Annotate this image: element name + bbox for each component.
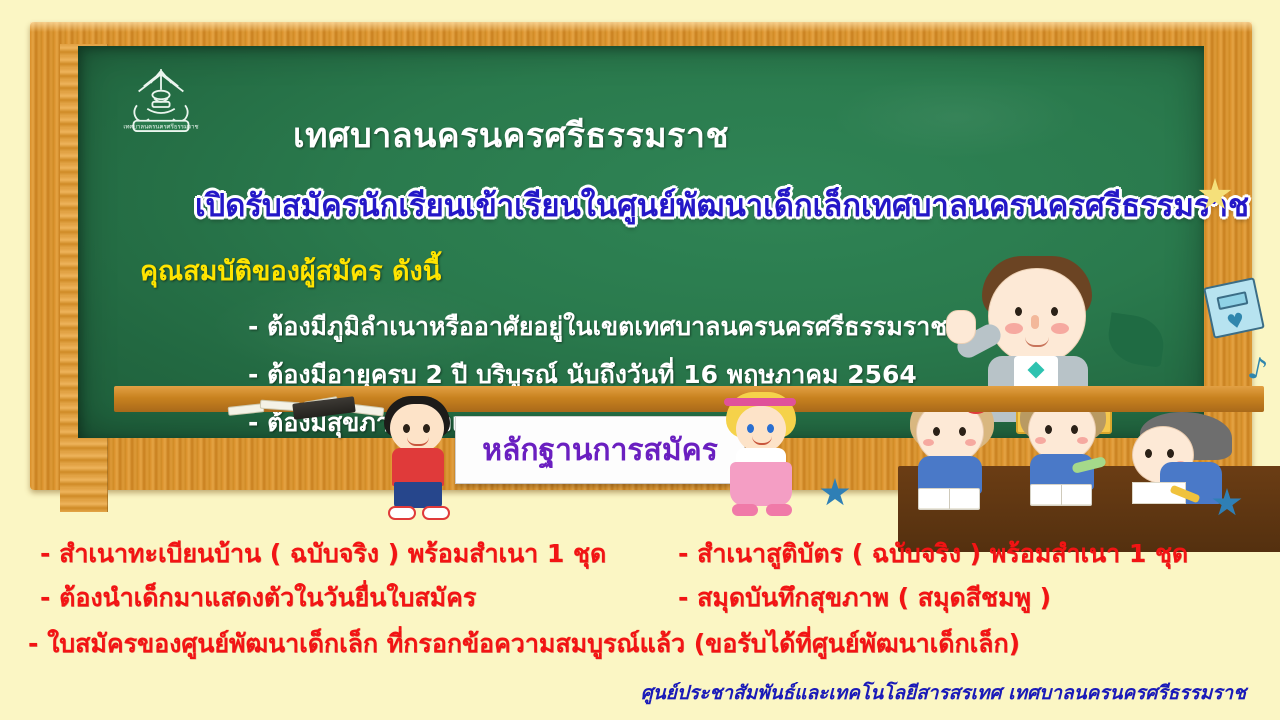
pupil-eye	[1167, 449, 1174, 458]
book-label	[1216, 291, 1248, 310]
main-headline: เปิดรับสมัครนักเรียนเข้าเรียนในศูนย์พัฒน…	[142, 180, 1280, 230]
pupil-cheek	[965, 439, 976, 446]
girl-smile	[752, 436, 772, 445]
teacher-nose	[1031, 315, 1039, 329]
teacher-cheek	[1005, 323, 1023, 334]
document-item-full-width: - ใบสมัครของศูนย์พัฒนาเด็กเล็ก ที่กรอกข้…	[28, 624, 1020, 664]
pupil-eye	[1045, 425, 1052, 434]
pupil-cheek	[1077, 437, 1088, 444]
document-item: - สำเนาทะเบียนบ้าน ( ฉบับจริง ) พร้อมสำเ…	[40, 534, 606, 574]
plant-decor-icon	[1105, 312, 1167, 367]
pupil-eye	[1071, 425, 1078, 434]
requirements-banner: หลักฐานการสมัคร	[455, 416, 745, 484]
pupil-cheek	[923, 439, 934, 446]
document-item: - ต้องนำเด็กมาแสดงตัวในวันยื่นใบสมัคร	[40, 578, 476, 618]
pupil-eye	[1145, 449, 1152, 458]
girl-eye	[747, 424, 754, 433]
document-item: - สำเนาสูติบัตร ( ฉบับจริง ) พร้อมสำเนา …	[678, 534, 1188, 574]
document-item: - สมุดบันทึกสุขภาพ ( สมุดสีชมพู )	[678, 578, 1051, 618]
heart-icon: ♥	[1225, 309, 1250, 331]
girl-head	[736, 406, 786, 452]
footer-credit: ศูนย์ประชาสัมพันธ์และเทคโนโลยีสารสรเทศ เ…	[641, 678, 1246, 708]
qualification-item: - ต้องมีภูมิลำเนาหรืออาศัยอยู่ในเขตเทศบา…	[248, 307, 947, 347]
blue-book-icon: ♥	[1203, 277, 1265, 339]
chalkboard-surface: เทศบาลนครนครศรีธรรมราช เทศบาลนครนครศรีธร…	[78, 46, 1204, 438]
boy-eye	[423, 424, 430, 433]
girl-eye	[767, 424, 774, 433]
pupil-boy-grey-cap	[1126, 412, 1236, 504]
teacher-head	[988, 268, 1086, 364]
organization-title: เทศบาลนครนครศรีธรรมราช	[293, 108, 729, 162]
teacher-smile	[1025, 337, 1049, 347]
boy-head	[390, 404, 444, 452]
banner-label: หลักฐานการสมัคร	[482, 427, 718, 474]
girl-headband-icon	[724, 398, 796, 406]
pupil-eye	[959, 427, 966, 436]
boy-shirt	[392, 448, 444, 486]
documents-section: - สำเนาทะเบียนบ้าน ( ฉบับจริง ) พร้อมสำเ…	[0, 498, 1280, 720]
qualifications-heading: คุณสมบัติของผู้สมัคร ดังนี้	[140, 249, 441, 292]
boy-eye	[403, 424, 410, 433]
pupil-cheek	[1035, 437, 1046, 444]
municipality-seal-icon: เทศบาลนครนครศรีธรรมราช	[118, 64, 204, 150]
pupil-eye	[933, 427, 940, 436]
svg-text:เทศบาลนครนครศรีธรรมราช: เทศบาลนครนครศรีธรรมราช	[123, 123, 198, 131]
teacher-cheek	[1051, 323, 1069, 334]
teacher-eye	[1051, 307, 1058, 316]
thumbs-up-icon	[946, 310, 976, 344]
teacher-eye	[1015, 307, 1022, 316]
boy-smile	[407, 437, 429, 446]
poster-root: เทศบาลนครนครศรีธรรมราช เทศบาลนครนครศรีธร…	[0, 0, 1280, 720]
